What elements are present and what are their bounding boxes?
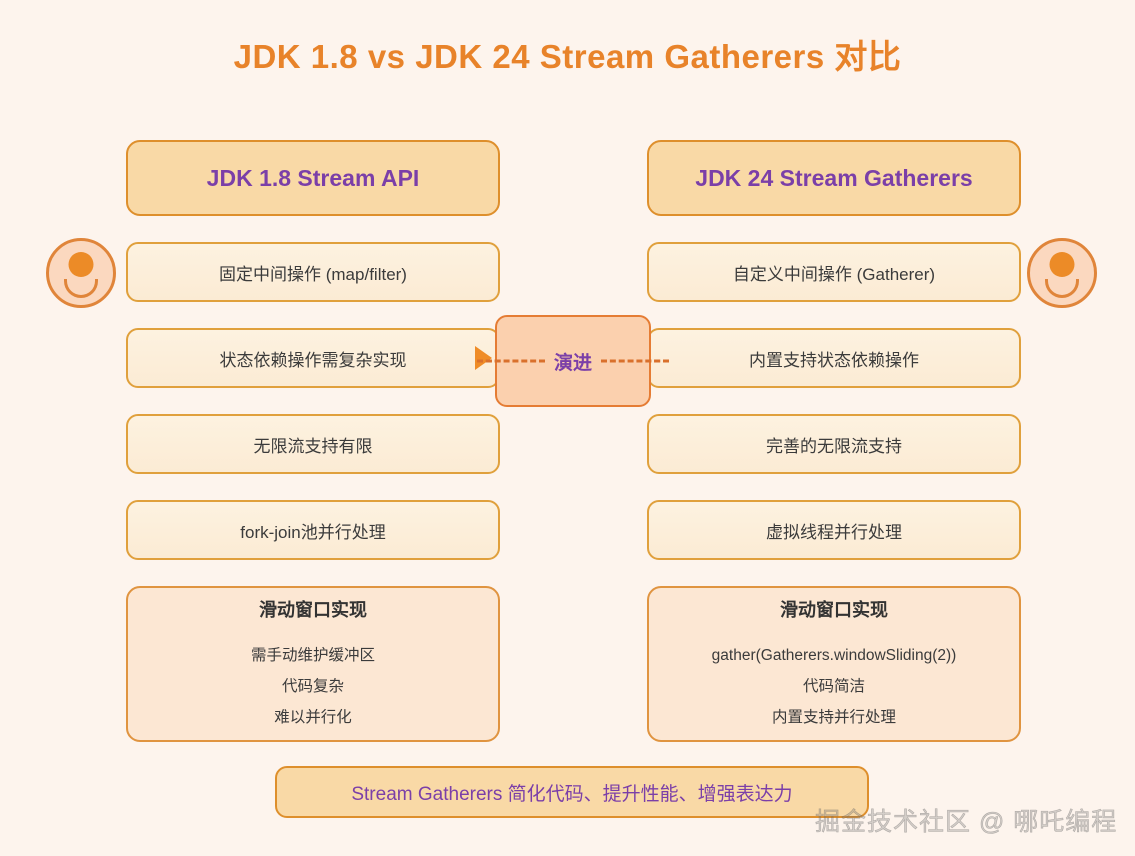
avatar-head-icon xyxy=(69,252,94,277)
left-row-1-label: 固定中间操作 (map/filter) xyxy=(219,260,407,285)
left-block-line-2: 代码复杂 xyxy=(282,671,344,702)
right-block-line-1: gather(Gatherers.windowSliding(2)) xyxy=(712,640,957,671)
right-sliding-window-block: 滑动窗口实现 gather(Gatherers.windowSliding(2)… xyxy=(647,586,1021,742)
left-row-3-label: 无限流支持有限 xyxy=(254,432,373,457)
avatar-smile-icon xyxy=(64,279,98,298)
right-block-line-3: 内置支持并行处理 xyxy=(772,702,896,733)
right-row-1-label: 自定义中间操作 (Gatherer) xyxy=(733,260,935,285)
right-column-header: JDK 24 Stream Gatherers xyxy=(647,140,1021,216)
left-row-2-label: 状态依赖操作需复杂实现 xyxy=(220,346,407,371)
left-sliding-window-block: 滑动窗口实现 需手动维护缓冲区 代码复杂 难以并行化 xyxy=(126,586,500,742)
right-row-3: 完善的无限流支持 xyxy=(647,414,1021,474)
right-block-line-2: 代码简洁 xyxy=(803,671,865,702)
arrow-right-icon xyxy=(475,346,492,370)
avatar-head-icon xyxy=(1050,252,1075,277)
right-row-4: 虚拟线程并行处理 xyxy=(647,500,1021,560)
right-block-title: 滑动窗口实现 xyxy=(780,596,888,622)
right-column: JDK 24 Stream Gatherers 自定义中间操作 (Gathere… xyxy=(647,140,1021,742)
avatar-right xyxy=(1027,238,1097,308)
watermark: 掘金技术社区 @ 哪吒编程 xyxy=(815,802,1117,838)
left-row-4-label: fork-join池并行处理 xyxy=(240,518,385,543)
right-row-2-label: 内置支持状态依赖操作 xyxy=(749,346,919,371)
evolution-label: 演进 xyxy=(547,348,599,375)
left-row-1: 固定中间操作 (map/filter) xyxy=(126,242,500,302)
left-block-line-1: 需手动维护缓冲区 xyxy=(251,640,375,671)
infographic-canvas: JDK 1.8 vs JDK 24 Stream Gatherers 对比 JD… xyxy=(0,0,1135,856)
left-column-header: JDK 1.8 Stream API xyxy=(126,140,500,216)
left-row-4: fork-join池并行处理 xyxy=(126,500,500,560)
summary-banner: Stream Gatherers 简化代码、提升性能、增强表达力 xyxy=(275,766,869,818)
right-row-4-label: 虚拟线程并行处理 xyxy=(766,518,902,543)
left-block-line-3: 难以并行化 xyxy=(274,702,352,733)
page-title: JDK 1.8 vs JDK 24 Stream Gatherers 对比 xyxy=(0,30,1135,78)
evolution-label-wrap: 演进 xyxy=(495,315,651,407)
right-row-2: 内置支持状态依赖操作 xyxy=(647,328,1021,388)
evolution-connector: 演进 xyxy=(495,315,651,407)
right-row-1: 自定义中间操作 (Gatherer) xyxy=(647,242,1021,302)
right-row-3-label: 完善的无限流支持 xyxy=(766,432,902,457)
avatar-left xyxy=(46,238,116,308)
left-column: JDK 1.8 Stream API 固定中间操作 (map/filter) 状… xyxy=(126,140,500,742)
avatar-smile-icon xyxy=(1045,279,1079,298)
left-row-3: 无限流支持有限 xyxy=(126,414,500,474)
left-block-title: 滑动窗口实现 xyxy=(259,596,367,622)
left-row-2: 状态依赖操作需复杂实现 xyxy=(126,328,500,388)
